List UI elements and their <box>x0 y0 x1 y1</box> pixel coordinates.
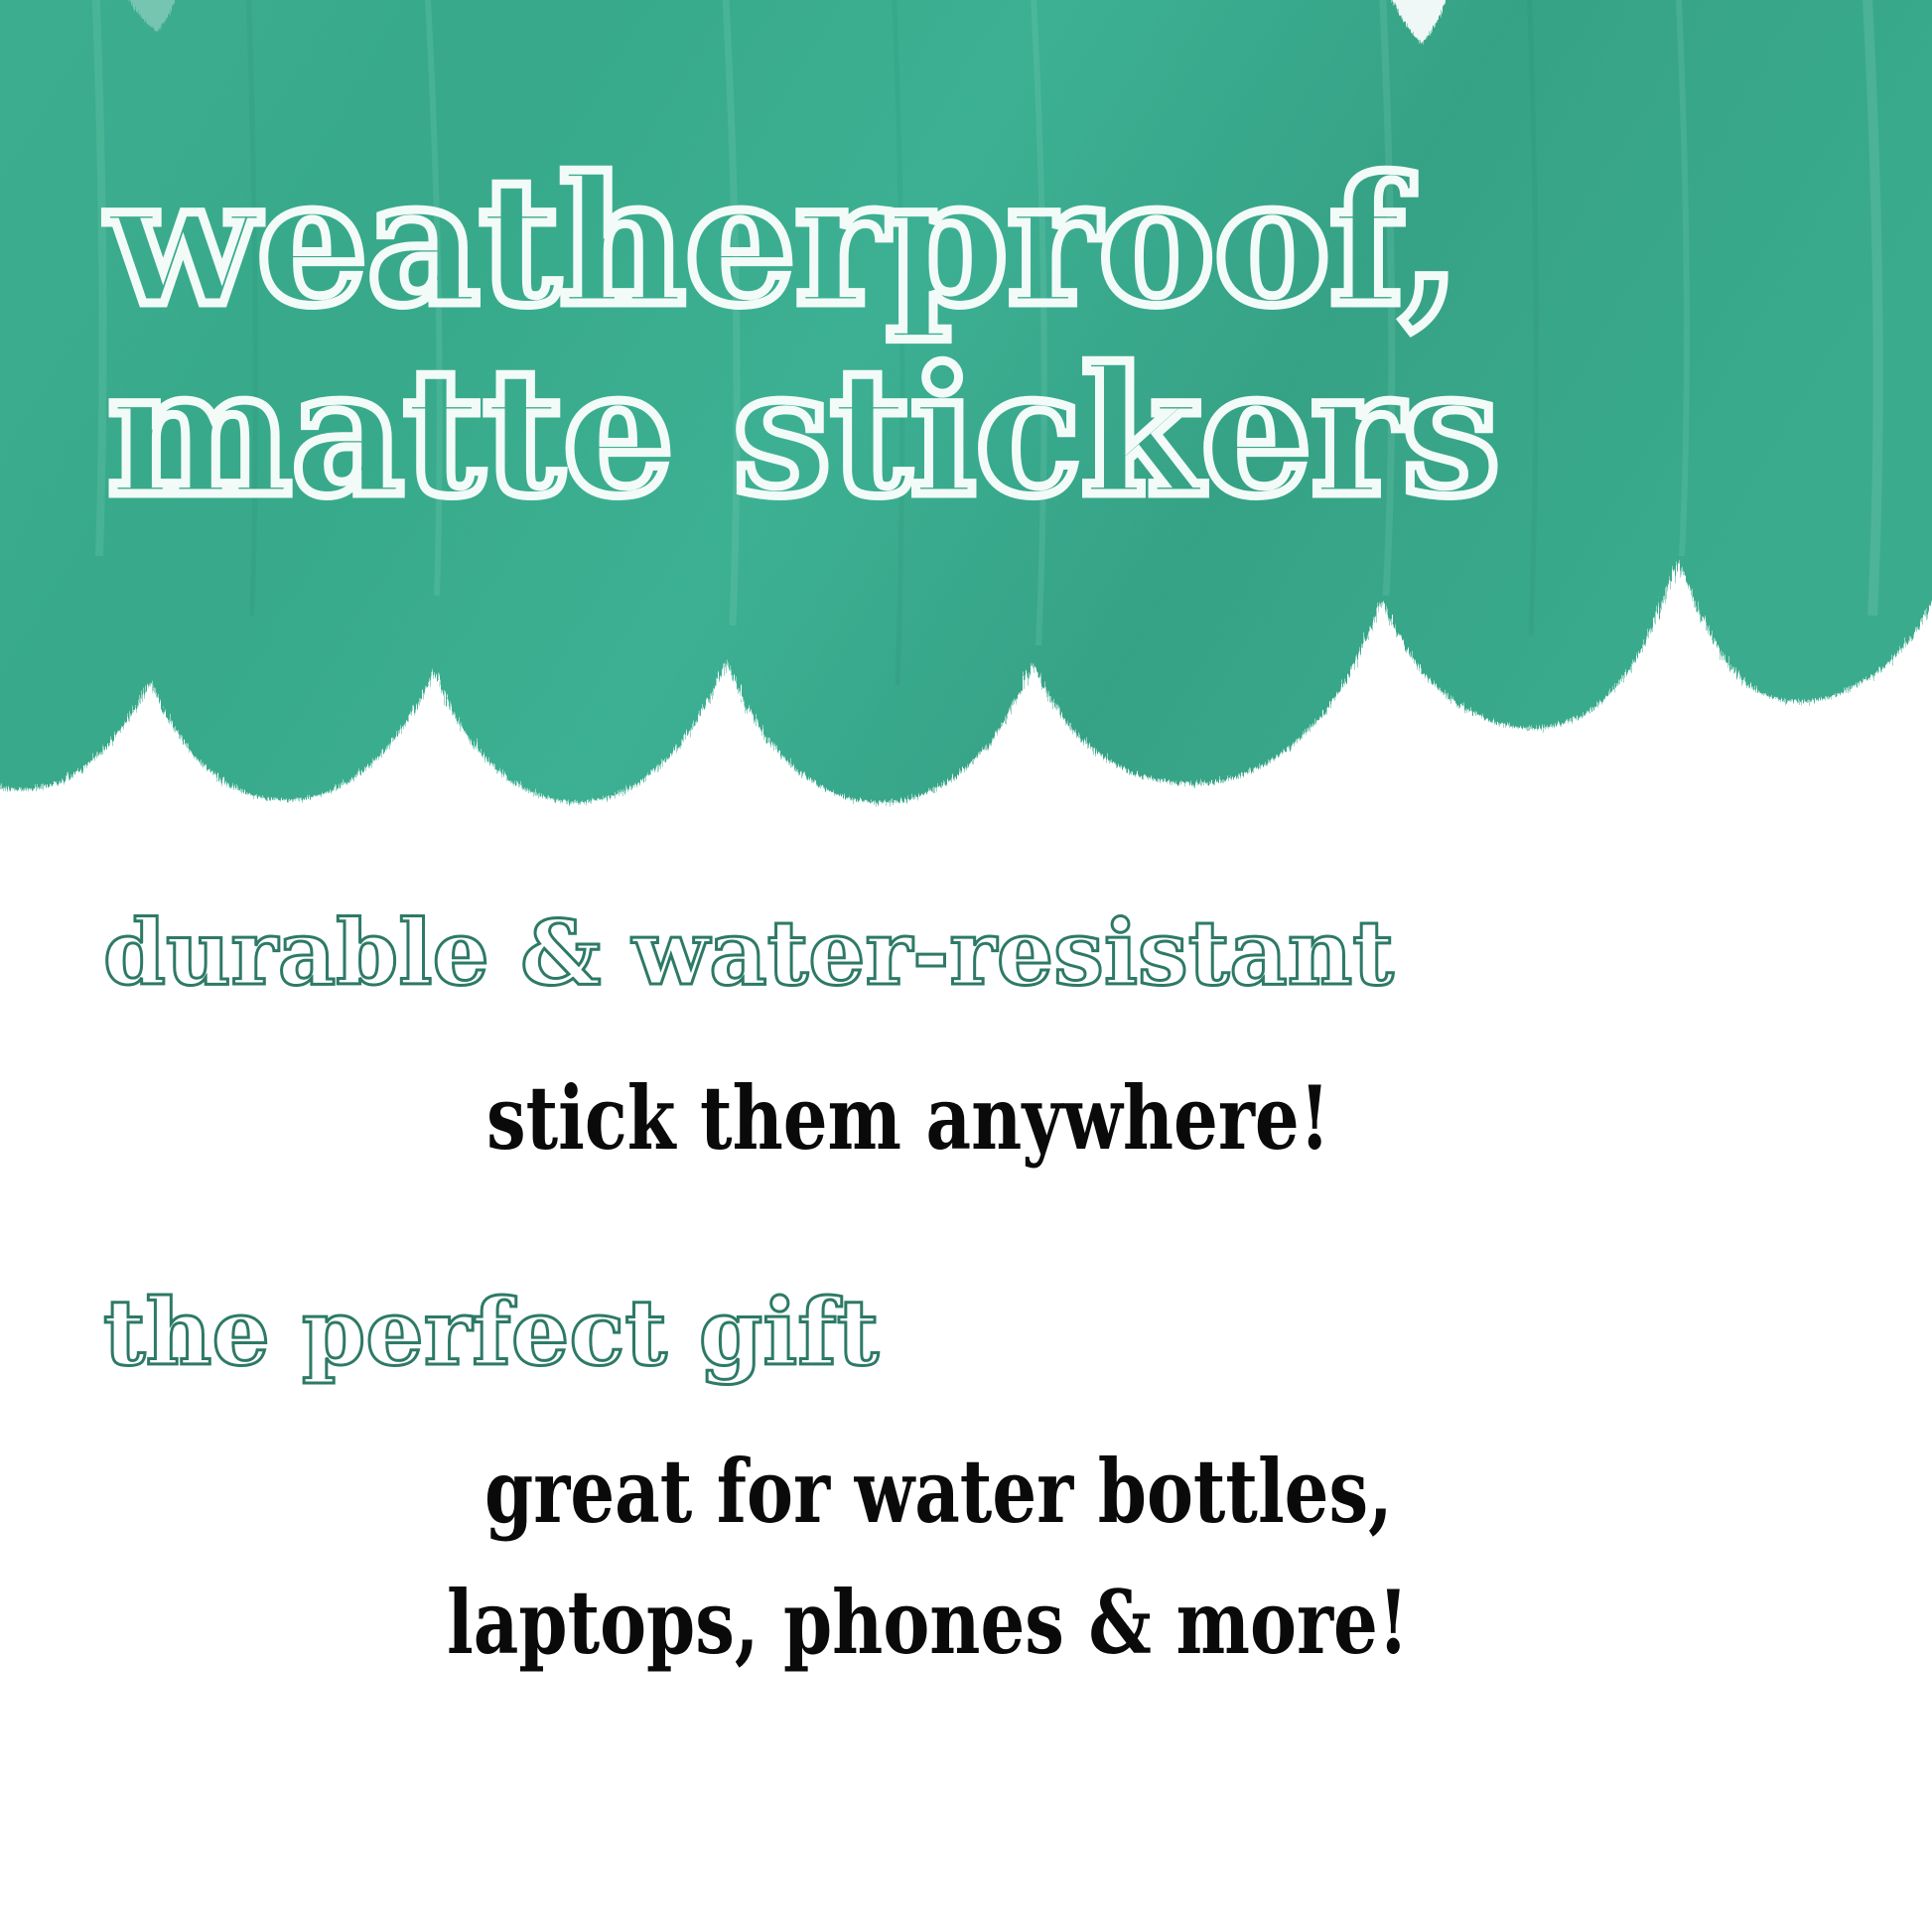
headline-line-1: weatherproof, <box>107 147 1825 338</box>
feature-subtext-water-bottles: great for water bottles, <box>484 1440 1393 1543</box>
sticker-promo-graphic: weatherproof, matte stickers durable & w… <box>0 0 1932 1932</box>
body-copy-block: durable & water-resistant stick them any… <box>0 814 1932 1932</box>
feature-heading-perfect-gift: the perfect gift <box>103 1281 879 1384</box>
headline-block: weatherproof, matte stickers <box>0 147 1932 528</box>
feature-subtext-stick-anywhere: stick them anywhere! <box>486 1066 1330 1170</box>
feature-heading-durable: durable & water-resistant <box>103 901 1394 1005</box>
green-brushstroke-banner: weatherproof, matte stickers <box>0 0 1932 814</box>
feature-subtext-laptops-phones: laptops, phones & more! <box>447 1571 1409 1674</box>
headline-line-2: matte stickers <box>107 338 1825 528</box>
